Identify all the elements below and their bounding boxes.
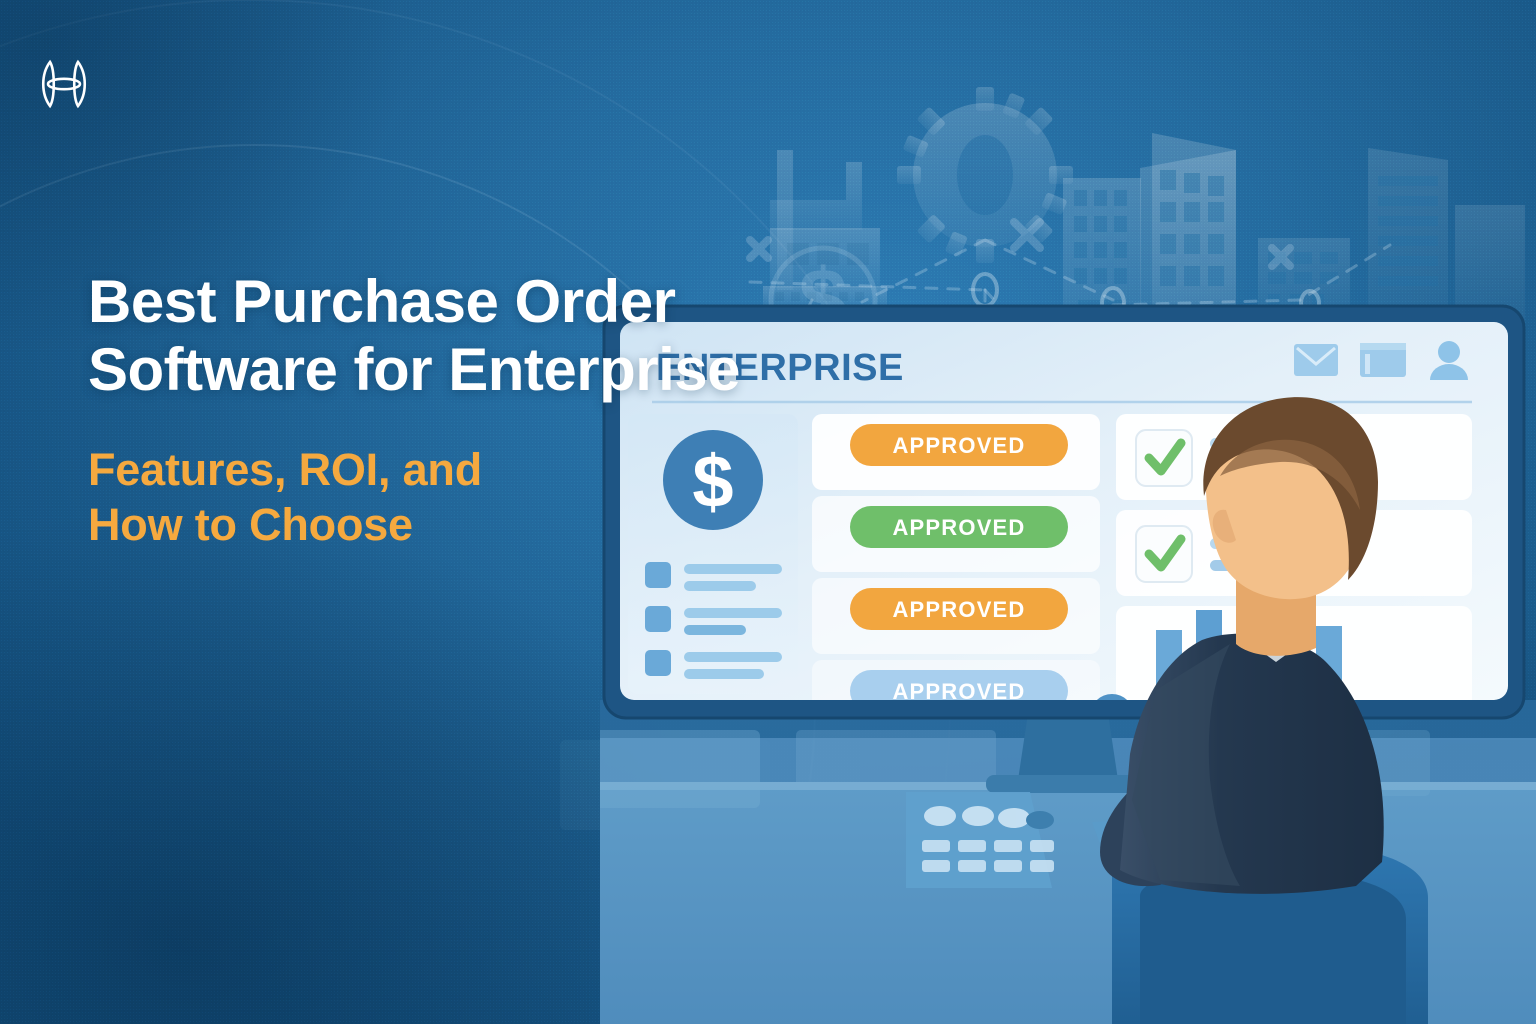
page-title: Best Purchase Order Software for Enterpr… — [88, 268, 888, 405]
status-badge-label: APPROVED — [892, 515, 1025, 540]
headline-line-2: Software for Enterprise — [88, 336, 888, 404]
subhead-line-2: How to Choose — [88, 498, 888, 553]
status-badge-label: APPROVED — [892, 597, 1025, 622]
status-badge[interactable]: APPROVED — [850, 588, 1068, 630]
hashmicro-h-logo[interactable] — [28, 48, 100, 120]
subhead-line-1: Features, ROI, and — [88, 443, 888, 498]
window-icon[interactable] — [1360, 343, 1406, 377]
headline-line-1: Best Purchase Order — [88, 268, 888, 336]
hero-banner: $ — [0, 0, 1536, 1024]
calculator — [906, 792, 1054, 888]
hero-copy: Best Purchase Order Software for Enterpr… — [88, 268, 888, 553]
mail-icon[interactable] — [1294, 344, 1338, 376]
page-subtitle: Features, ROI, and How to Choose — [88, 443, 888, 553]
status-badge-label: APPROVED — [892, 433, 1025, 458]
